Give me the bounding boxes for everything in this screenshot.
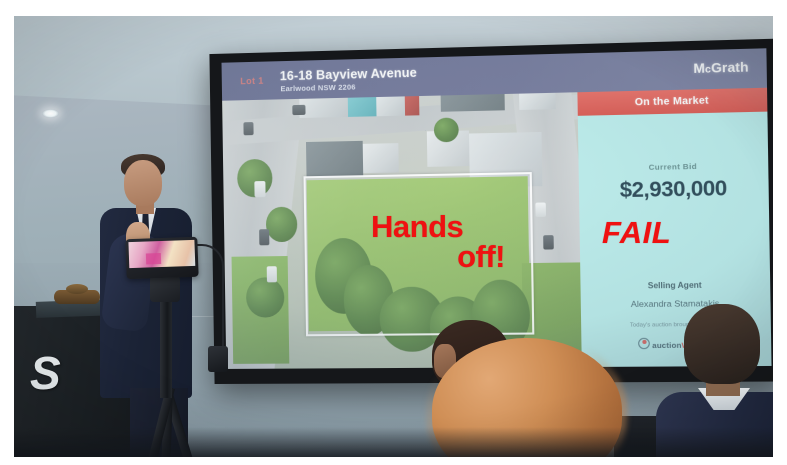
ceiling-downlight-icon	[42, 109, 59, 118]
aerial-roof	[348, 97, 377, 117]
camera-lcd-screen	[128, 240, 195, 268]
aerial-car	[266, 266, 277, 282]
aerial-car	[535, 203, 546, 217]
aerial-roof	[363, 143, 399, 173]
auctionworks-mark-icon	[638, 338, 650, 349]
current-bid-label: Current Bid	[578, 160, 768, 173]
lot-badge: Lot 1	[240, 75, 264, 86]
mcgrath-logo: McGrath	[693, 59, 748, 76]
photo-white-frame: Lot 1 16-18 Bayview Avenue Earlwood NSW …	[0, 0, 787, 465]
microphone-icon	[208, 346, 228, 372]
aerial-car	[292, 104, 306, 115]
audience-head	[684, 304, 760, 384]
camera-tripod	[126, 238, 236, 457]
aerial-roof	[405, 96, 420, 115]
tripod-head	[150, 276, 180, 302]
gavel-knob-icon	[66, 284, 88, 294]
brand-prefix: M	[693, 60, 705, 76]
property-address: 16-18 Bayview Avenue	[280, 66, 417, 84]
aerial-tree	[433, 117, 458, 142]
tripod-column	[160, 298, 172, 398]
selling-agent-label: Selling Agent	[580, 280, 770, 291]
aerial-car	[255, 181, 266, 197]
aerial-car	[259, 229, 270, 245]
lot-boundary-outline	[303, 172, 534, 337]
aerial-car	[243, 122, 254, 136]
aerial-map-canvas	[222, 93, 582, 369]
aerial-roof	[306, 141, 363, 177]
aerial-map-image	[222, 93, 582, 369]
brand-suffix: Grath	[711, 59, 749, 75]
aerial-roof	[519, 93, 555, 110]
auctioneer-head	[124, 160, 162, 206]
foreground-shadow	[14, 427, 773, 457]
video-camera	[125, 237, 198, 279]
current-bid-amount: $2,930,000	[579, 176, 769, 204]
aerial-car	[543, 236, 554, 250]
auction-room-photo: Lot 1 16-18 Bayview Avenue Earlwood NSW …	[14, 16, 773, 457]
on-the-market-banner: On the Market	[577, 88, 767, 116]
status-badge: On the Market	[635, 95, 709, 108]
aerial-roof	[376, 94, 405, 116]
property-suburb: Earlwood NSW 2206	[280, 82, 355, 93]
aerial-roof	[440, 93, 505, 113]
venue-logo-letter: S	[30, 346, 59, 400]
